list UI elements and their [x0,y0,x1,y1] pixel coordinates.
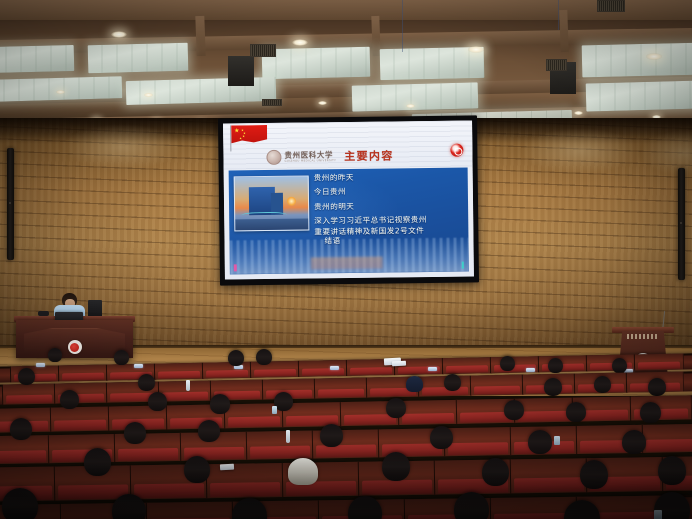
downlight [292,39,308,46]
audience-head [580,460,608,489]
seat-nameplate [134,364,143,368]
audience-head [124,422,146,444]
ceiling-light-panel [352,82,479,111]
slide-body: 贵州的昨天 今日贵州 贵州的明天 深入学习习近平总书记视察贵州 重要讲话精神及新… [229,168,469,275]
list-item: 结语 [324,235,464,245]
seat [630,395,692,420]
flag-stars: ★ ★ ★ ★ ★ [234,128,248,137]
seat [298,360,348,377]
seat [146,502,234,519]
downlight [646,53,662,60]
audience-head [640,402,661,423]
seat [58,365,108,382]
seat [470,375,524,396]
audience-head [566,402,586,422]
projector-mount [228,56,254,86]
audience-head [612,358,627,373]
downlight [468,46,484,53]
ceiling [0,0,692,126]
seat [444,427,512,456]
seat-nameplate [36,363,45,367]
audience-head [148,392,167,411]
audience-head [48,348,62,362]
audience-head [454,492,489,519]
projection-screen: ★ ★ ★ ★ ★ 贵州医科大学 GUIZHOU MEDICAL UNIVERS… [223,120,474,279]
audience-head [320,424,343,447]
paper-stack [392,361,406,367]
ceiling-light-panel [0,45,74,73]
ceiling-wire [558,0,559,30]
downlight [111,31,127,38]
seat [442,357,492,374]
ceiling-light-panel [262,47,371,79]
ceiling-light-panel [586,80,692,111]
ceiling-light-panel [380,47,485,80]
seat [250,361,300,378]
downlight [144,93,153,97]
audience-head [648,378,666,396]
campus-photo [234,175,310,231]
phone [654,510,662,519]
audience-head [10,418,32,440]
downlight [318,101,327,105]
seat [642,424,692,453]
audience-head [500,356,515,371]
seat [50,407,110,432]
seat [206,463,285,498]
presentation-slide: ★ ★ ★ ★ ★ 贵州医科大学 GUIZHOU MEDICAL UNIVERS… [223,120,474,279]
water-bottle [186,380,190,391]
audience-head [184,456,210,483]
audience-head [210,394,230,414]
air-vent [262,99,282,106]
air-vent [250,44,276,57]
audience-head [382,452,410,481]
seat [398,400,458,425]
slide-edge-marker [234,264,237,271]
audience-head [658,456,686,485]
auditorium-scene: ★ ★ ★ ★ ★ 贵州医科大学 GUIZHOU MEDICAL UNIVERS… [0,0,692,519]
phone [272,406,277,414]
ceiling-light-panel [582,43,692,78]
audience-head [60,390,79,409]
water-bottle [286,430,290,443]
sun-glow [287,197,296,206]
audience-head [138,374,155,391]
slide-header: ★ ★ ★ ★ ★ 贵州医科大学 GUIZHOU MEDICAL UNIVERS… [223,120,473,169]
seat [510,458,589,493]
audience-head [228,350,244,366]
audience-head [444,374,461,391]
ceiling-light-panel [0,76,122,102]
seat [634,354,684,371]
photo-bridge [241,212,287,221]
audience-head [386,398,406,418]
air-vent [546,59,567,71]
audience-head-with-cap [406,376,423,392]
audience-head [84,448,111,476]
downlight [574,111,583,115]
audience-head [548,358,563,373]
downlight [56,90,65,94]
list-item: 贵州的明天 [314,201,464,211]
seat [202,362,252,379]
seat [246,431,314,460]
audience-head [198,420,220,442]
list-item: 今日贵州 [314,187,464,197]
audience-head [504,400,524,420]
audience-head [114,350,129,365]
paper-stack [220,464,234,471]
slide-title: 主要内容 [223,146,472,165]
audience-head [544,378,562,396]
seat-nameplate [428,367,437,371]
slide-edge-marker [461,262,464,269]
seat [154,363,204,380]
seat [2,384,56,405]
list-item: 贵州的昨天 [314,173,464,183]
audience-head [528,430,552,454]
projection-screen-frame: ★ ★ ★ ★ ★ 贵州医科大学 GUIZHOU MEDICAL UNIVERS… [218,115,479,285]
audience-head [2,488,38,519]
slide-bullet-list: 贵州的昨天 今日贵州 贵州的明天 深入学习习近平总书记视察贵州 重要讲话精神及新… [314,173,465,252]
photo-foreground [235,218,308,230]
audience-head [18,368,35,385]
seat [314,378,368,399]
audience-head-with-cap [288,458,318,485]
air-vent [597,0,625,12]
desk-microphone [38,311,49,316]
phone [554,436,560,445]
audience-head [430,426,453,449]
seat-nameplate [330,366,339,370]
audience-head [594,376,611,393]
audience-head [622,430,646,454]
audience-seating [0,352,692,519]
ceiling-light-panel [88,43,189,73]
ceiling-wire [402,0,403,52]
list-item: 深入学习习近平总书记视察贵州 [314,215,464,225]
lectern-nameplate [627,334,659,339]
audience-head [482,458,509,486]
seat-nameplate [526,368,535,372]
downlight [406,104,415,108]
audience-head [256,349,272,365]
